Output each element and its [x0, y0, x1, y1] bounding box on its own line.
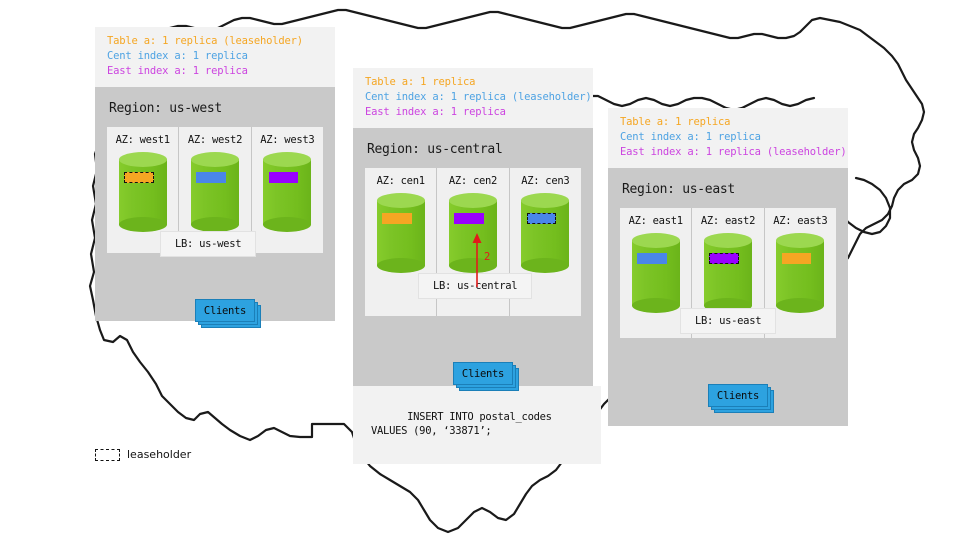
clients-stack[interactable]: Clients [453, 362, 515, 387]
cylinder-side [776, 240, 824, 306]
region-panel-us-east: Region: us-east AZ: east1 AZ: east2 [608, 168, 848, 426]
node-cylinder[interactable] [263, 152, 311, 232]
cylinder-bottom [119, 217, 167, 232]
replica-line-east-index: East index a: 1 replica (leaseholder) [620, 145, 838, 160]
cylinder-side [704, 240, 752, 306]
lb-label: LB: us-west [175, 238, 241, 250]
cylinder-top [521, 193, 569, 208]
cylinder-side [263, 159, 311, 225]
clients-label: Clients [717, 390, 759, 402]
region-title: Region: us-east [622, 182, 836, 197]
region-cluster-us-west: Table a: 1 replica (leaseholder) Cent in… [95, 27, 335, 321]
cylinder-bottom [263, 217, 311, 232]
replica-chip-east-index [454, 213, 484, 224]
replica-chip-east-index [269, 172, 299, 183]
sql-text: INSERT INTO postal_codes VALUES (90, ‘33… [371, 411, 552, 437]
cylinder-bottom [377, 258, 425, 273]
node-cylinder[interactable] [776, 233, 824, 313]
replica-line-east-index: East index a: 1 replica [365, 105, 583, 120]
clients-stack[interactable]: Clients [708, 384, 770, 409]
flow-arrow-label-2: 2 [484, 251, 490, 263]
load-balancer-us-east[interactable]: LB: us-east [680, 308, 776, 334]
load-balancer-us-central[interactable]: LB: us-central [418, 273, 532, 299]
cylinder-top [704, 233, 752, 248]
az-label: AZ: east1 [620, 215, 691, 227]
cylinder-top [632, 233, 680, 248]
clients-button[interactable]: Clients [453, 362, 513, 385]
region-panel-us-central: Region: us-central AZ: cen1 AZ: cen2 [353, 128, 593, 386]
region-panel-us-west: Region: us-west AZ: west1 AZ: west2 [95, 87, 335, 321]
replica-summary-us-west: Table a: 1 replica (leaseholder) Cent in… [95, 27, 335, 87]
region-title: Region: us-central [367, 142, 581, 157]
region-title: Region: us-west [109, 101, 323, 116]
replica-line-table: Table a: 1 replica (leaseholder) [107, 34, 325, 49]
replica-line-cent-index: Cent index a: 1 replica (leaseholder) [365, 90, 583, 105]
cylinder-top [119, 152, 167, 167]
node-cylinder[interactable] [704, 233, 752, 313]
replica-chip-east-index-leaseholder [709, 253, 739, 264]
replica-chip-table-leaseholder [124, 172, 154, 183]
legend-label: leaseholder [127, 448, 191, 461]
cylinder-bottom [521, 258, 569, 273]
az-label: AZ: cen2 [437, 175, 508, 187]
replica-chip-table [782, 253, 812, 264]
node-cylinder[interactable] [632, 233, 680, 313]
lb-label: LB: us-east [695, 315, 761, 327]
az-label: AZ: cen3 [510, 175, 581, 187]
az-label: AZ: cen1 [365, 175, 436, 187]
clients-area: Clients [620, 378, 836, 436]
replica-chip-table [382, 213, 412, 224]
cylinder-top [377, 193, 425, 208]
cylinder-bottom [632, 298, 680, 313]
cylinder-bottom [776, 298, 824, 313]
region-cluster-us-east: Table a: 1 replica Cent index a: 1 repli… [608, 108, 848, 426]
clients-area: Clients [107, 293, 323, 351]
replica-line-cent-index: Cent index a: 1 replica [620, 130, 838, 145]
cylinder-top [776, 233, 824, 248]
clients-button[interactable]: Clients [195, 299, 255, 322]
diagram-canvas: Table a: 1 replica (leaseholder) Cent in… [0, 0, 960, 540]
cylinder-top [263, 152, 311, 167]
replica-line-table: Table a: 1 replica [365, 75, 583, 90]
replica-chip-cent-index [196, 172, 226, 183]
az-label: AZ: west3 [252, 134, 323, 146]
lb-label: LB: us-central [433, 280, 517, 292]
replica-summary-us-central: Table a: 1 replica Cent index a: 1 repli… [353, 68, 593, 128]
leaseholder-swatch-icon [95, 449, 120, 461]
cylinder-top [449, 193, 497, 208]
az-west3[interactable]: AZ: west3 [252, 127, 323, 253]
replica-line-table: Table a: 1 replica [620, 115, 838, 130]
legend: leaseholder [95, 448, 191, 461]
replica-line-east-index: East index a: 1 replica [107, 64, 325, 79]
clients-stack[interactable]: Clients [195, 299, 257, 324]
region-cluster-us-central: Table a: 1 replica Cent index a: 1 repli… [353, 68, 593, 464]
node-cylinder[interactable] [377, 193, 425, 273]
node-cylinder[interactable] [119, 152, 167, 232]
replica-summary-us-east: Table a: 1 replica Cent index a: 1 repli… [608, 108, 848, 168]
clients-button[interactable]: Clients [708, 384, 768, 407]
load-balancer-us-west[interactable]: LB: us-west [160, 231, 256, 257]
replica-line-cent-index: Cent index a: 1 replica [107, 49, 325, 64]
replica-chip-cent-index-leaseholder [527, 213, 557, 224]
cylinder-top [191, 152, 239, 167]
replica-chip-cent-index [637, 253, 667, 264]
cylinder-side [191, 159, 239, 225]
az-label: AZ: east3 [765, 215, 836, 227]
cylinder-side [377, 200, 425, 266]
clients-label: Clients [462, 368, 504, 380]
az-label: AZ: west1 [107, 134, 178, 146]
node-cylinder[interactable] [521, 193, 569, 273]
cylinder-bottom [191, 217, 239, 232]
cylinder-side [632, 240, 680, 306]
cylinder-side [521, 200, 569, 266]
az-label: AZ: west2 [179, 134, 250, 146]
clients-area: Clients [365, 356, 581, 414]
node-cylinder[interactable] [191, 152, 239, 232]
cylinder-side [119, 159, 167, 225]
clients-label: Clients [204, 305, 246, 317]
az-label: AZ: east2 [692, 215, 763, 227]
